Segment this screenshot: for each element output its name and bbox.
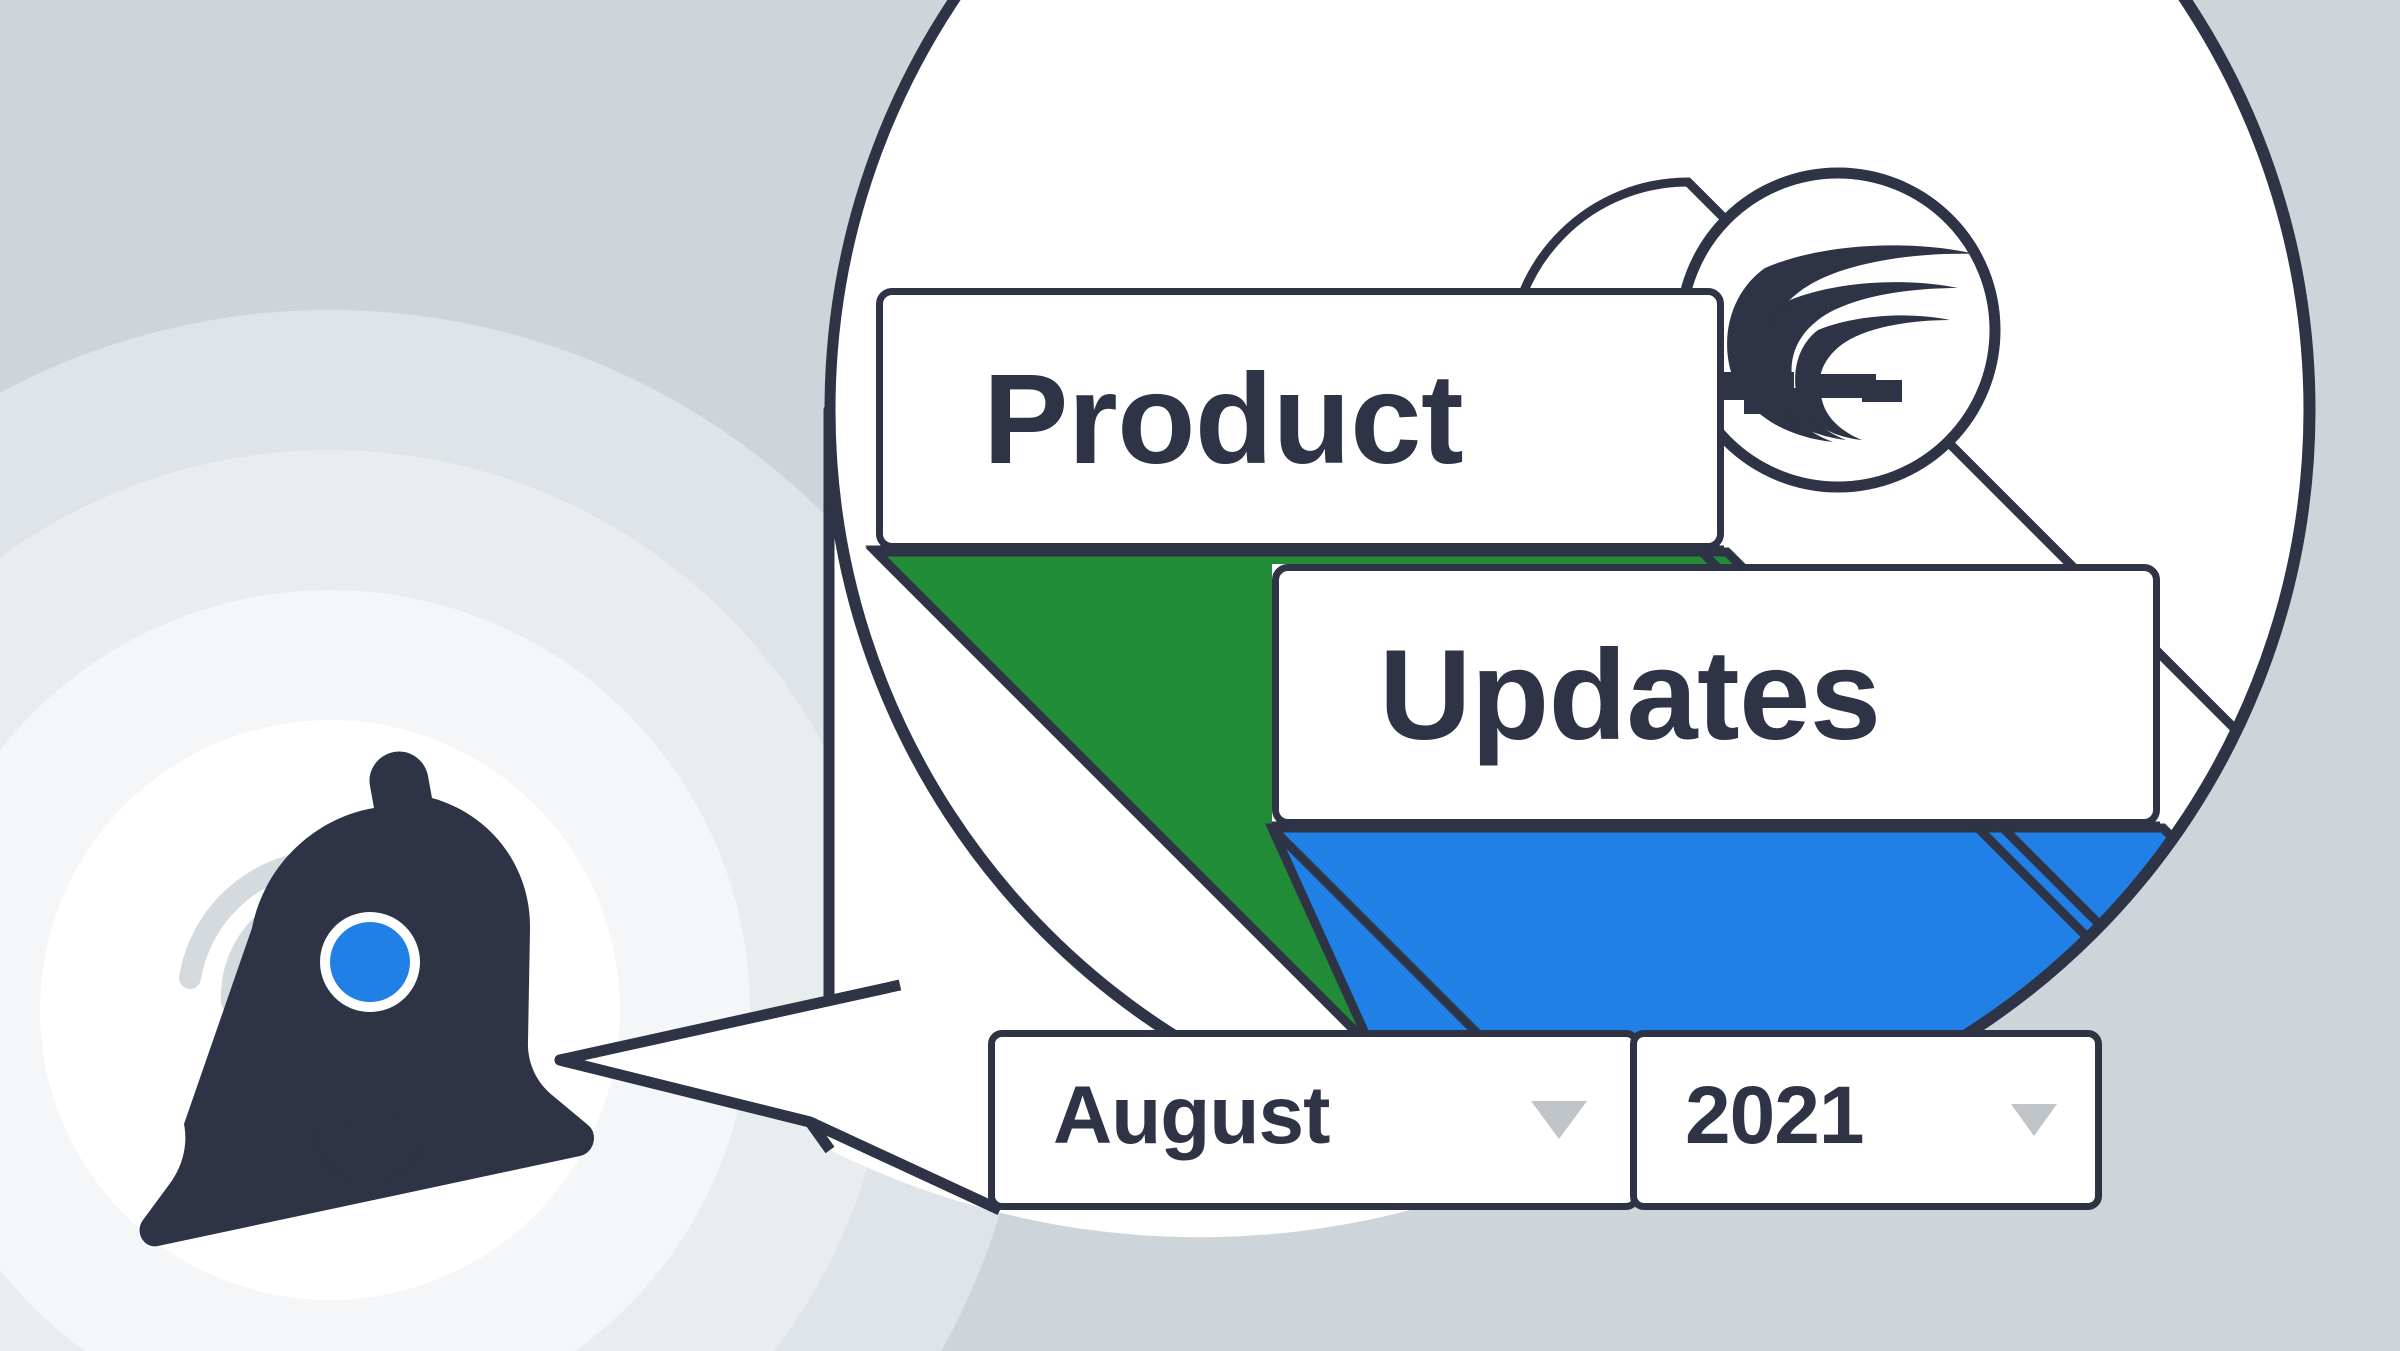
year-dropdown[interactable]: 2021: [1630, 1030, 2102, 1210]
announcement-banner: Product Updates August 2021: [0, 0, 2400, 1351]
brand-badge[interactable]: [1681, 173, 1995, 487]
title-card-updates-label: Updates: [1379, 622, 1881, 769]
year-dropdown-value: 2021: [1685, 1075, 1863, 1157]
month-dropdown-value: August: [1053, 1075, 1329, 1157]
unread-dot-icon: [330, 922, 410, 1002]
title-card-updates: Updates: [1272, 564, 2160, 826]
title-card-product: Product: [876, 288, 1724, 550]
title-card-product-label: Product: [983, 346, 1463, 493]
chevron-down-icon[interactable]: [2011, 1104, 2057, 1136]
chevron-down-icon[interactable]: [1531, 1101, 1587, 1139]
month-dropdown[interactable]: August: [988, 1030, 1640, 1210]
